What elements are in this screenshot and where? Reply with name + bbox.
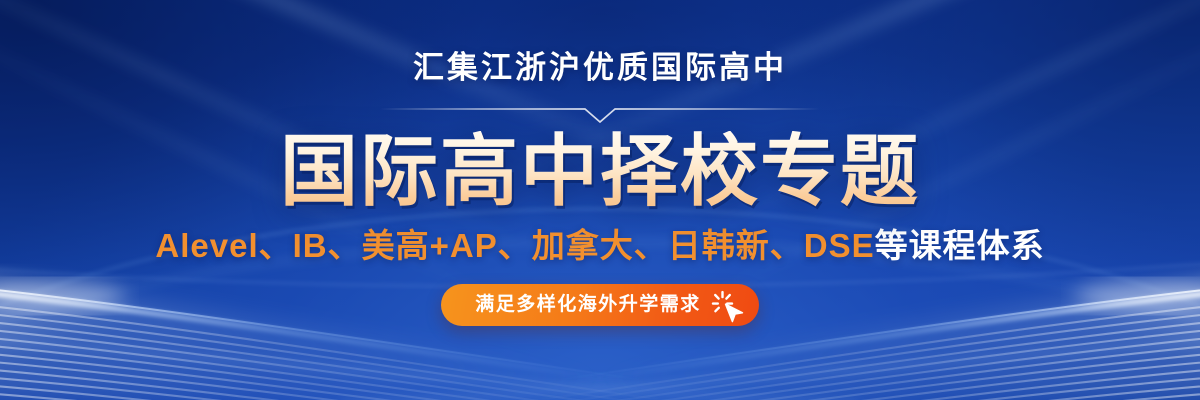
chevron-down-divider bbox=[380, 101, 820, 123]
banner-headline: 国际高中择校专题 bbox=[280, 131, 920, 213]
cta-button-label: 满足多样化海外升学需求 bbox=[475, 295, 701, 314]
banner-subtitle: Alevel、IB、美高+AP、加拿大、日韩新、DSE等课程体系 bbox=[155, 229, 1044, 262]
click-cursor-icon bbox=[709, 286, 749, 326]
banner-content: 汇集江浙沪优质国际高中 国际高中择校专题 Alevel、IB、美高+AP、加拿大… bbox=[0, 0, 1200, 400]
click-cursor-glyph bbox=[709, 286, 749, 326]
banner-subtitle-highlight: Alevel、IB、美高+AP、加拿大、日韩新、DSE bbox=[155, 227, 874, 264]
banner-eyebrow-text: 汇集江浙沪优质国际高中 bbox=[413, 52, 787, 83]
promo-banner: 汇集江浙沪优质国际高中 国际高中择校专题 Alevel、IB、美高+AP、加拿大… bbox=[0, 0, 1200, 400]
chevron-down-divider-icon bbox=[380, 101, 820, 123]
cta-button[interactable]: 满足多样化海外升学需求 bbox=[441, 284, 759, 326]
banner-subtitle-tail: 等课程体系 bbox=[875, 227, 1045, 264]
